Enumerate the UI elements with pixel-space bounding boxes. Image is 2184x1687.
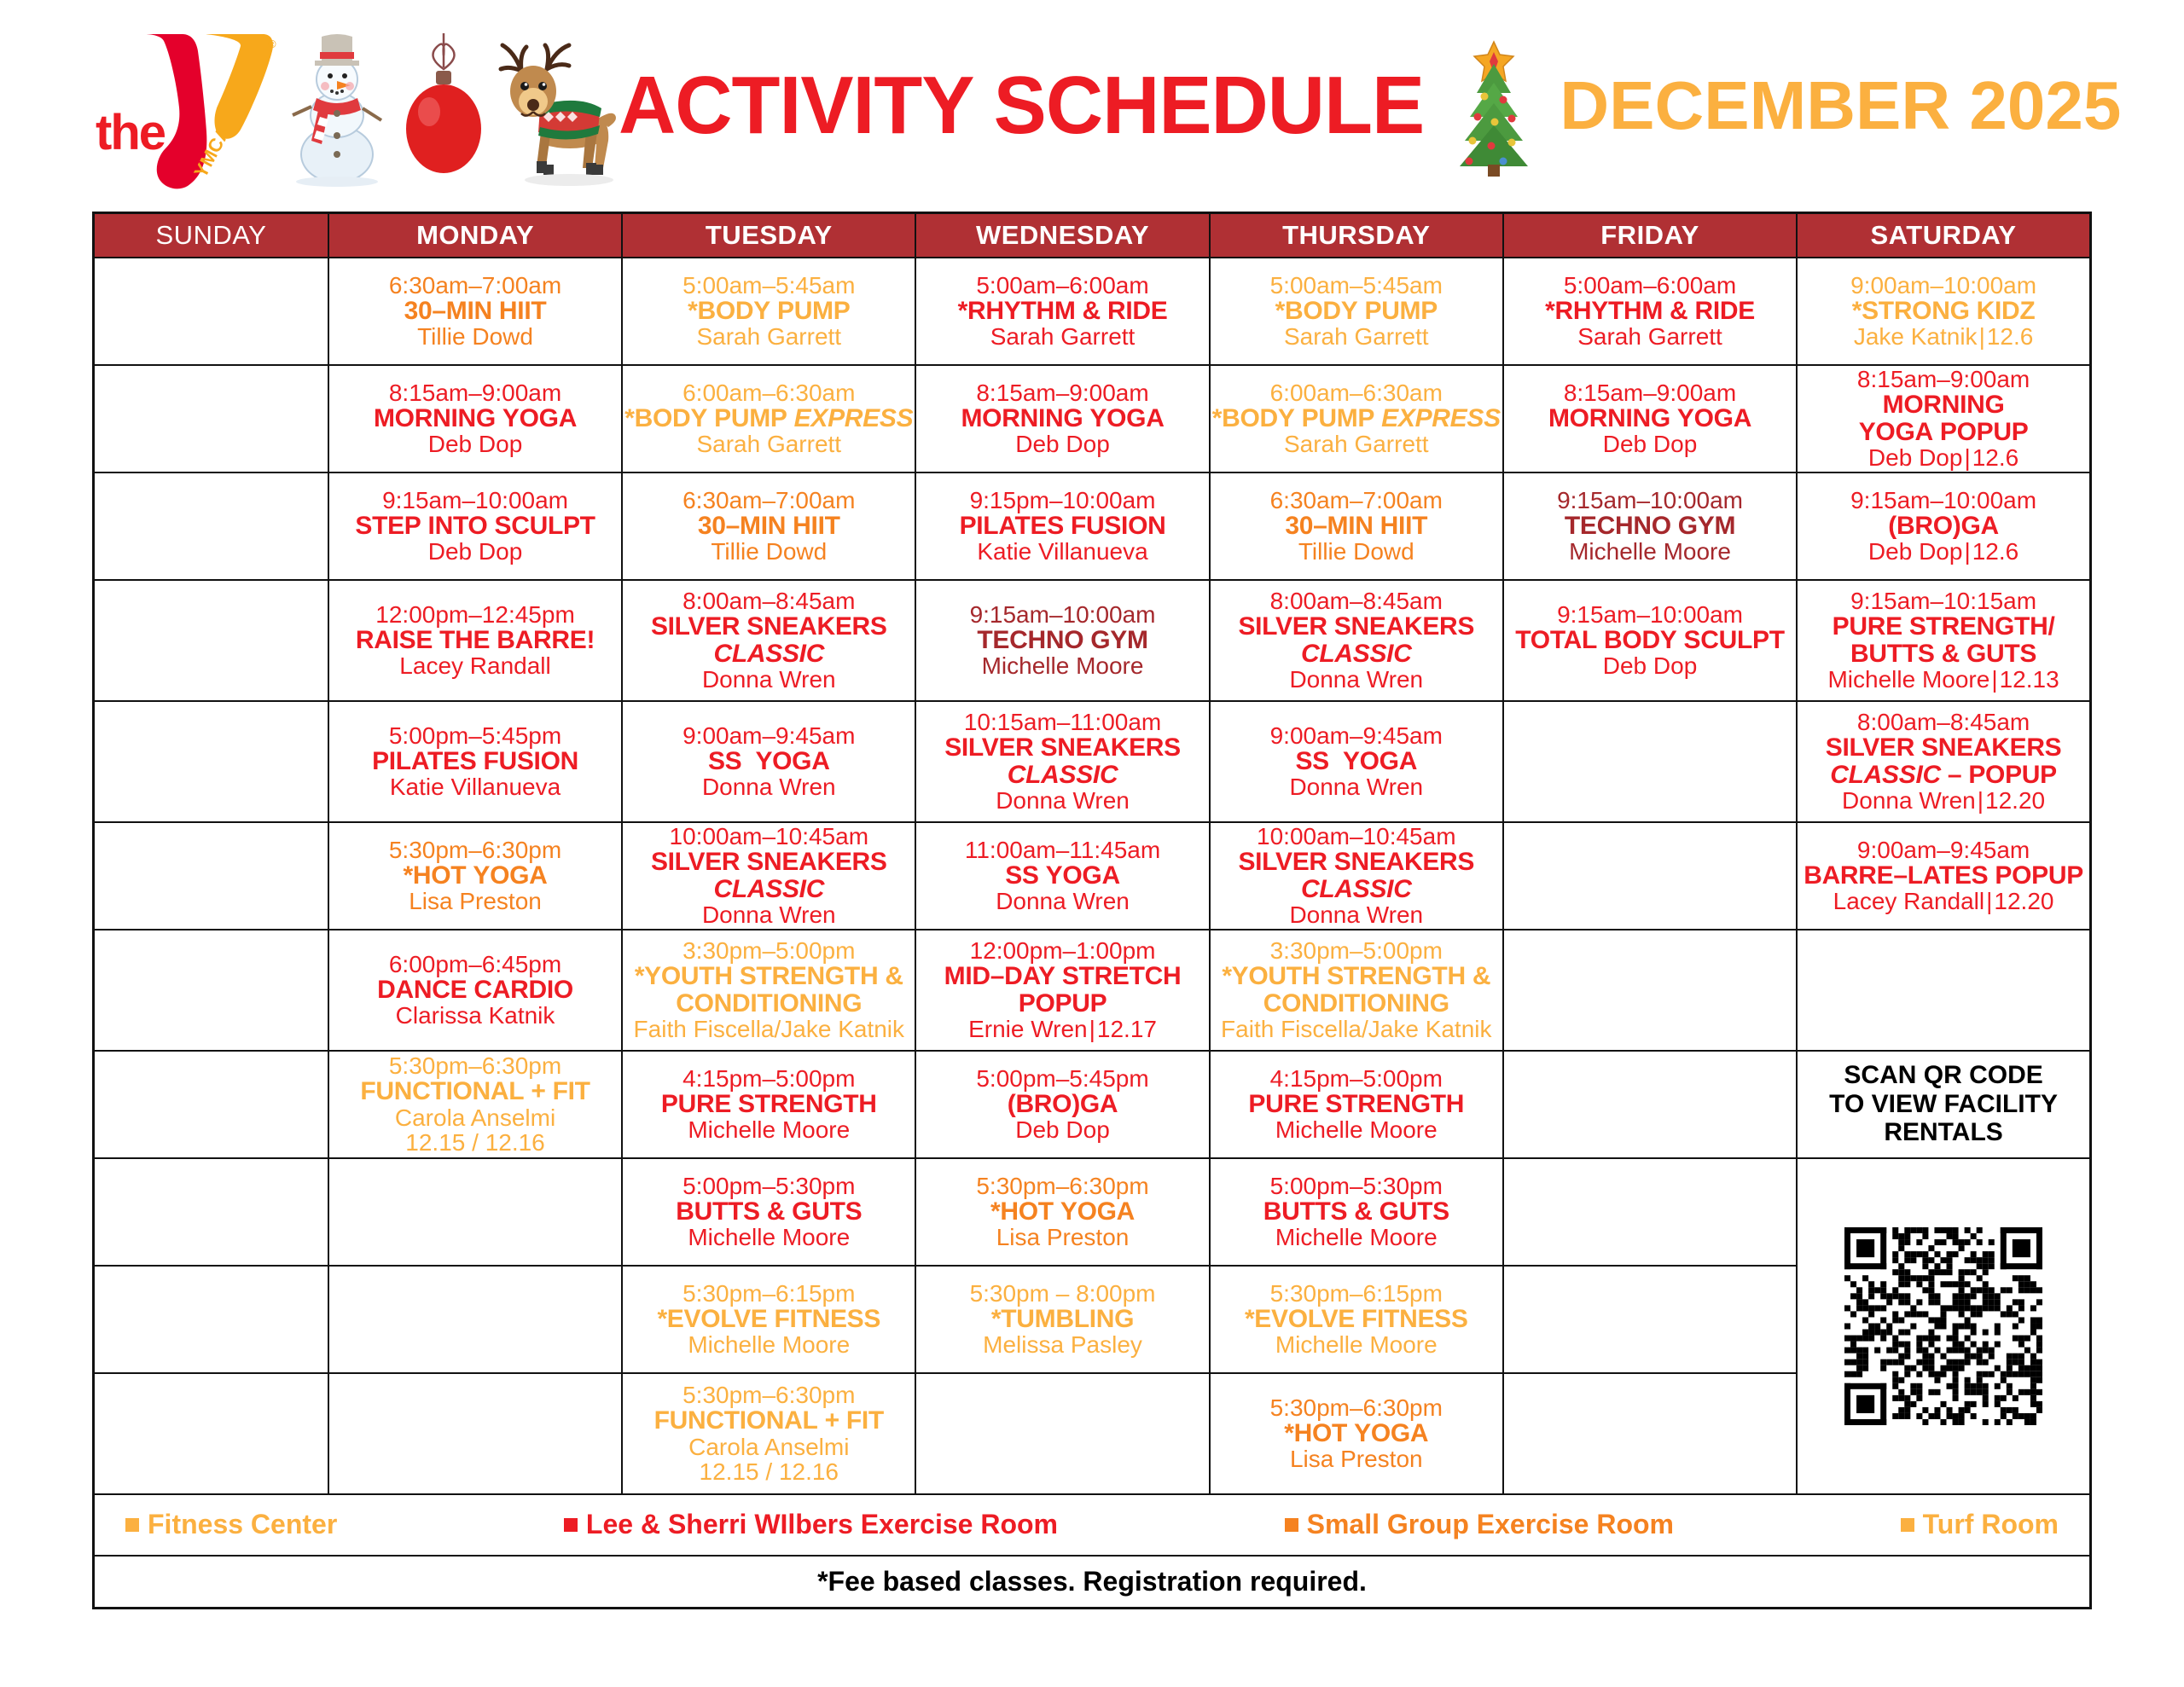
schedule-cell[interactable]: 5:30pm–6:30pm FUNCTIONAL + FIT Carola An… [622, 1373, 915, 1494]
schedule-cell[interactable]: 9:15am–10:00am STEP INTO SCULPT Deb Dop [328, 472, 622, 580]
schedule-cell[interactable]: 9:00am–10:00am *STRONG KIDZ Jake Katnik|… [1797, 258, 2090, 365]
schedule-cell[interactable]: 6:00am–6:30am *BODY PUMP EXPRESS Sarah G… [1210, 365, 1503, 472]
table-header: SUNDAY MONDAY TUESDAY WEDNESDAY THURSDAY… [94, 213, 2091, 258]
event-name: SS YOGA [623, 748, 915, 774]
class-event[interactable]: 6:30am–7:00am 30–MIN HIIT Tillie Dowd [623, 488, 915, 564]
event-name: MORNINGYOGA POPUP [1798, 391, 2089, 444]
legend-label: Lee & Sherri WIlbers Exercise Room [586, 1509, 1058, 1540]
page-title: ACTIVITY SCHEDULE [619, 59, 1424, 153]
legend-label: Fitness Center [148, 1509, 337, 1540]
class-event[interactable]: 6:00am–6:30am *BODY PUMP EXPRESS Sarah G… [623, 380, 915, 456]
event-instructor: Carola Anselmi [329, 1105, 621, 1130]
event-instructor: Michelle Moore [1211, 1332, 1502, 1357]
event-name: SILVER SNEAKERSCLASSIC [623, 849, 915, 901]
event-instructor: Sarah Garrett [1211, 324, 1502, 349]
qr-code-cell[interactable] [1797, 1158, 2090, 1494]
event-time: 10:00am–10:45am [1211, 824, 1502, 849]
schedule-cell[interactable] [94, 1373, 328, 1494]
event-instructor: Deb Dop [1504, 432, 1796, 456]
event-instructor: Sarah Garrett [1504, 324, 1796, 349]
event-dates: 12.15 / 12.16 [623, 1459, 915, 1484]
event-instructor: Michelle Moore|12.13 [1798, 667, 2089, 692]
event-instructor: Lisa Preston [1211, 1446, 1502, 1471]
activity-schedule-page: the YMCA ® [0, 0, 2184, 1687]
event-instructor: Lisa Preston [916, 1225, 1208, 1249]
event-name: STEP INTO SCULPT [329, 513, 621, 539]
schedule-cell[interactable]: 8:00am–8:45am SILVER SNEAKERSCLASSIC – P… [1797, 701, 2090, 822]
qr-instructions: SCAN QR CODE TO VIEW FACILITY RENTALS [1798, 1061, 2089, 1147]
event-instructor: Donna Wren [1211, 902, 1502, 927]
event-name: MORNING YOGA [1504, 405, 1796, 432]
event-instructor: Michelle Moore [623, 1225, 915, 1249]
event-time: 9:00am–9:45am [1211, 723, 1502, 748]
event-name: TECHNO GYM [916, 627, 1208, 653]
event-time: 6:30am–7:00am [329, 273, 621, 298]
class-event[interactable]: 9:15am–10:00am TECHNO GYM Michelle Moore [916, 602, 1208, 678]
event-time: 5:30pm–6:30pm [623, 1383, 915, 1407]
event-instructor: Sarah Garrett [623, 324, 915, 349]
qr-title-line2: TO VIEW FACILITY [1829, 1090, 2058, 1118]
footnote-row: *Fee based classes. Registration require… [94, 1556, 2091, 1609]
schedule-cell[interactable]: 10:00am–10:45am SILVER SNEAKERSCLASSIC D… [1210, 822, 1503, 930]
class-event[interactable]: 5:30pm–6:15pm *EVOLVE FITNESS Michelle M… [1211, 1281, 1502, 1357]
schedule-cell[interactable]: 5:00pm–5:30pm BUTTS & GUTS Michelle Moor… [622, 1158, 915, 1266]
legend-cell: Fitness Center Lee & Sherri WIlbers Exer… [94, 1494, 2091, 1556]
event-time: 8:15am–9:00am [1798, 367, 2089, 391]
class-event[interactable]: 9:15am–10:00am (BRO)GA Deb Dop|12.6 [1798, 488, 2089, 564]
schedule-cell[interactable] [1503, 701, 1797, 822]
event-time: 5:00am–5:45am [1211, 273, 1502, 298]
class-event[interactable]: 5:30pm–6:30pm FUNCTIONAL + FIT Carola An… [329, 1053, 621, 1155]
event-time: 9:00am–10:00am [1798, 273, 2089, 298]
event-name: (BRO)GA [916, 1091, 1208, 1117]
class-event[interactable]: 5:00pm–5:45pm (BRO)GA Deb Dop [916, 1066, 1208, 1142]
schedule-cell[interactable]: 6:00am–6:30am *BODY PUMP EXPRESS Sarah G… [622, 365, 915, 472]
schedule-cell[interactable]: 5:30pm–6:30pm FUNCTIONAL + FIT Carola An… [328, 1051, 622, 1158]
schedule-cell[interactable] [1503, 1373, 1797, 1494]
event-name: *HOT YOGA [916, 1198, 1208, 1225]
class-event[interactable]: 6:30am–7:00am 30–MIN HIIT Tillie Dowd [1211, 488, 1502, 564]
schedule-cell[interactable] [94, 1158, 328, 1266]
legend-label: Turf Room [1923, 1509, 2059, 1540]
event-time: 9:15pm–10:00am [916, 488, 1208, 513]
schedule-cell[interactable]: 5:30pm–6:15pm *EVOLVE FITNESS Michelle M… [622, 1266, 915, 1373]
event-dates: 12.15 / 12.16 [329, 1130, 621, 1155]
event-time: 5:00am–5:45am [623, 273, 915, 298]
day-header-tuesday: TUESDAY [622, 213, 915, 258]
schedule-cell[interactable] [1797, 930, 2090, 1051]
schedule-cell[interactable]: 5:00am–6:00am *RHYTHM & RIDE Sarah Garre… [1503, 258, 1797, 365]
schedule-table: SUNDAY MONDAY TUESDAY WEDNESDAY THURSDAY… [92, 212, 2092, 1609]
event-time: 12:00pm–1:00pm [916, 938, 1208, 963]
schedule-cell[interactable] [94, 1266, 328, 1373]
schedule-cell[interactable]: 5:00pm–5:45pm PILATES FUSION Katie Villa… [328, 701, 622, 822]
schedule-row: 8:15am–9:00am MORNING YOGA Deb Dop 6:00a… [94, 365, 2091, 472]
event-name: *YOUTH STRENGTH &CONDITIONING [623, 963, 915, 1016]
schedule-cell[interactable] [94, 580, 328, 701]
event-name: *HOT YOGA [329, 862, 621, 889]
class-event[interactable]: 9:15am–10:00am TOTAL BODY SCULPT Deb Dop [1504, 602, 1796, 678]
event-instructor: Sarah Garrett [1211, 432, 1502, 456]
schedule-cell[interactable]: 9:15am–10:00am TOTAL BODY SCULPT Deb Dop [1503, 580, 1797, 701]
event-name: PILATES FUSION [916, 513, 1208, 539]
event-instructor: Donna Wren|12.20 [1798, 788, 2089, 813]
class-event[interactable]: 9:15am–10:15am PURE STRENGTH/BUTTS & GUT… [1798, 588, 2089, 692]
fee-note: *Fee based classes. Registration require… [95, 1566, 2089, 1597]
event-name: *BODY PUMP [623, 298, 915, 324]
schedule-cell[interactable] [1503, 1158, 1797, 1266]
class-event[interactable]: 10:15am–11:00am SILVER SNEAKERSCLASSIC D… [916, 710, 1208, 813]
schedule-cell[interactable]: 3:30pm–5:00pm *YOUTH STRENGTH &CONDITION… [622, 930, 915, 1051]
event-time: 10:00am–10:45am [623, 824, 915, 849]
class-event[interactable]: 9:00am–9:45am BARRE–LATES POPUP Lacey Ra… [1798, 838, 2089, 913]
day-header-monday: MONDAY [328, 213, 622, 258]
event-instructor: Deb Dop [329, 432, 621, 456]
schedule-cell[interactable] [94, 365, 328, 472]
class-event[interactable]: 3:30pm–5:00pm *YOUTH STRENGTH &CONDITION… [1211, 938, 1502, 1041]
footnote-cell: *Fee based classes. Registration require… [94, 1556, 2091, 1609]
event-name: *EVOLVE FITNESS [623, 1306, 915, 1332]
schedule-row: 12:00pm–12:45pm RAISE THE BARRE! Lacey R… [94, 580, 2091, 701]
class-event[interactable]: 8:15am–9:00am MORNINGYOGA POPUP Deb Dop|… [1798, 367, 2089, 470]
calendar-container: SUNDAY MONDAY TUESDAY WEDNESDAY THURSDAY… [0, 212, 2184, 1609]
event-name: 30–MIN HIIT [329, 298, 621, 324]
event-name: SILVER SNEAKERSCLASSIC [1211, 613, 1502, 666]
schedule-cell[interactable] [94, 701, 328, 822]
reindeer-icon [491, 23, 619, 189]
event-instructor: Donna Wren [916, 788, 1208, 813]
event-time: 5:30pm–6:30pm [329, 838, 621, 862]
event-instructor: Lisa Preston [329, 889, 621, 913]
class-event[interactable]: 5:00am–6:00am *RHYTHM & RIDE Sarah Garre… [1504, 273, 1796, 349]
event-time: 9:00am–9:45am [1798, 838, 2089, 862]
event-time: 5:00am–6:00am [1504, 273, 1796, 298]
event-name: *TUMBLING [916, 1306, 1208, 1332]
schedule-row: 5:30pm–6:30pm FUNCTIONAL + FIT Carola An… [94, 1051, 2091, 1158]
event-time: 3:30pm–5:00pm [1211, 938, 1502, 963]
event-time: 6:00pm–6:45pm [329, 952, 621, 977]
event-instructor: Donna Wren [623, 902, 915, 927]
class-event[interactable]: 8:00am–8:45am SILVER SNEAKERSCLASSIC – P… [1798, 710, 2089, 813]
schedule-cell[interactable] [94, 822, 328, 930]
class-event[interactable]: 8:15am–9:00am MORNING YOGA Deb Dop [1504, 380, 1796, 456]
class-event[interactable]: 4:15pm–5:00pm PURE STRENGTH Michelle Moo… [1211, 1066, 1502, 1142]
event-name: *YOUTH STRENGTH &CONDITIONING [1211, 963, 1502, 1016]
schedule-cell[interactable]: 6:30am–7:00am 30–MIN HIIT Tillie Dowd [1210, 472, 1503, 580]
schedule-cell[interactable]: 9:15am–10:00am TECHNO GYM Michelle Moore [915, 580, 1209, 701]
class-event[interactable]: 9:15pm–10:00am PILATES FUSION Katie Vill… [916, 488, 1208, 564]
class-event[interactable]: 5:30pm–6:30pm FUNCTIONAL + FIT Carola An… [623, 1383, 915, 1484]
schedule-cell[interactable]: 5:30pm–6:15pm *EVOLVE FITNESS Michelle M… [1210, 1266, 1503, 1373]
schedule-month: DECEMBER 2025 [1560, 67, 2121, 145]
schedule-cell[interactable]: 6:00pm–6:45pm DANCE CARDIO Clarissa Katn… [328, 930, 622, 1051]
event-name: PURE STRENGTH/BUTTS & GUTS [1798, 613, 2089, 666]
schedule-cell[interactable] [1503, 1051, 1797, 1158]
christmas-tree-icon [1443, 33, 1544, 178]
event-name: *STRONG KIDZ [1798, 298, 2089, 324]
qr-code-icon[interactable] [1844, 1227, 2042, 1425]
schedule-cell[interactable]: 9:15pm–10:00am PILATES FUSION Katie Vill… [915, 472, 1209, 580]
class-event[interactable]: 5:30pm–6:30pm *HOT YOGA Lisa Preston [1211, 1395, 1502, 1471]
event-instructor: Michelle Moore [623, 1117, 915, 1142]
event-instructor: Sarah Garrett [623, 432, 915, 456]
schedule-cell[interactable]: 10:00am–10:45am SILVER SNEAKERSCLASSIC D… [622, 822, 915, 930]
event-time: 9:00am–9:45am [623, 723, 915, 748]
event-name: 30–MIN HIIT [623, 513, 915, 539]
event-name: SILVER SNEAKERSCLASSIC [623, 613, 915, 666]
class-event[interactable]: 12:00pm–12:45pm RAISE THE BARRE! Lacey R… [329, 602, 621, 678]
ymca-y-icon: YMCA ® [138, 29, 279, 191]
schedule-cell[interactable]: 5:00am–5:45am *BODY PUMP Sarah Garrett [1210, 258, 1503, 365]
event-name: *BODY PUMP EXPRESS [623, 405, 915, 432]
event-name: BARRE–LATES POPUP [1798, 862, 2089, 889]
schedule-row: 6:30am–7:00am 30–MIN HIIT Tillie Dowd 5:… [94, 258, 2091, 365]
schedule-cell[interactable]: 3:30pm–5:00pm *YOUTH STRENGTH &CONDITION… [1210, 930, 1503, 1051]
schedule-cell[interactable]: 9:00am–9:45am SS YOGA Donna Wren [622, 701, 915, 822]
event-instructor: Michelle Moore [1504, 539, 1796, 564]
legend-item: Fitness Center [125, 1509, 337, 1540]
event-instructor: Deb Dop [1504, 653, 1796, 678]
schedule-cell[interactable]: 6:30am–7:00am 30–MIN HIIT Tillie Dowd [328, 258, 622, 365]
ornament-icon [397, 25, 491, 187]
legend-item: Lee & Sherri WIlbers Exercise Room [564, 1509, 1058, 1540]
legend-swatch-icon [564, 1518, 578, 1532]
svg-text:®: ® [268, 38, 276, 50]
qr-title-line3: RENTALS [1884, 1118, 2002, 1146]
schedule-cell[interactable]: 4:15pm–5:00pm PURE STRENGTH Michelle Moo… [1210, 1051, 1503, 1158]
schedule-cell[interactable]: 5:00pm–5:45pm (BRO)GA Deb Dop [915, 1051, 1209, 1158]
schedule-cell[interactable]: 9:15am–10:00am TECHNO GYM Michelle Moore [1503, 472, 1797, 580]
legend-swatch-icon [1285, 1518, 1298, 1532]
schedule-cell[interactable] [328, 1158, 622, 1266]
event-time: 9:15am–10:00am [1798, 488, 2089, 513]
legend-list: Fitness Center Lee & Sherri WIlbers Exer… [95, 1509, 2089, 1540]
event-name: PURE STRENGTH [623, 1091, 915, 1117]
event-name: DANCE CARDIO [329, 977, 621, 1003]
schedule-cell[interactable]: 5:00am–5:45am *BODY PUMP Sarah Garrett [622, 258, 915, 365]
event-name: BUTTS & GUTS [623, 1198, 915, 1225]
event-name: *BODY PUMP EXPRESS [1211, 405, 1502, 432]
event-name: MID–DAY STRETCHPOPUP [916, 963, 1208, 1016]
event-name: SS YOGA [916, 862, 1208, 889]
event-name: MORNING YOGA [916, 405, 1208, 432]
schedule-cell[interactable]: 8:15am–9:00am MORNING YOGA Deb Dop [1503, 365, 1797, 472]
schedule-cell[interactable]: 8:15am–9:00am MORNING YOGA Deb Dop [915, 365, 1209, 472]
class-event[interactable]: 5:30pm–6:30pm *HOT YOGA Lisa Preston [329, 838, 621, 913]
event-time: 5:00pm–5:45pm [916, 1066, 1208, 1091]
class-event[interactable]: 9:00am–9:45am SS YOGA Donna Wren [1211, 723, 1502, 799]
event-name: *RHYTHM & RIDE [916, 298, 1208, 324]
event-instructor: Clarissa Katnik [329, 1003, 621, 1028]
snowman-icon [277, 25, 397, 187]
schedule-row: 6:00pm–6:45pm DANCE CARDIO Clarissa Katn… [94, 930, 2091, 1051]
schedule-cell[interactable]: 5:30pm–6:30pm *HOT YOGA Lisa Preston [1210, 1373, 1503, 1494]
event-time: 9:15am–10:15am [1798, 588, 2089, 613]
event-time: 6:30am–7:00am [623, 488, 915, 513]
event-time: 8:15am–9:00am [329, 380, 621, 405]
event-name: PURE STRENGTH [1211, 1091, 1502, 1117]
event-instructor: Donna Wren [1211, 667, 1502, 692]
event-instructor: Donna Wren [623, 667, 915, 692]
event-time: 5:00pm–5:45pm [329, 723, 621, 748]
class-event[interactable]: 6:00pm–6:45pm DANCE CARDIO Clarissa Katn… [329, 952, 621, 1028]
class-event[interactable]: 8:15am–9:00am MORNING YOGA Deb Dop [916, 380, 1208, 456]
event-name: *EVOLVE FITNESS [1211, 1306, 1502, 1332]
event-name: (BRO)GA [1798, 513, 2089, 539]
class-event[interactable]: 10:00am–10:45am SILVER SNEAKERSCLASSIC D… [1211, 824, 1502, 927]
class-event[interactable]: 9:00am–9:45am SS YOGA Donna Wren [623, 723, 915, 799]
class-event[interactable]: 9:00am–10:00am *STRONG KIDZ Jake Katnik|… [1798, 273, 2089, 349]
schedule-cell[interactable] [328, 1266, 622, 1373]
class-event[interactable]: 11:00am–11:45am SS YOGA Donna Wren [916, 838, 1208, 913]
event-time: 5:00pm–5:30pm [623, 1174, 915, 1198]
schedule-cell[interactable]: 5:30pm–6:30pm *HOT YOGA Lisa Preston [328, 822, 622, 930]
event-name: MORNING YOGA [329, 405, 621, 432]
schedule-cell[interactable] [94, 930, 328, 1051]
event-time: 9:15am–10:00am [1504, 488, 1796, 513]
event-instructor: Deb Dop|12.6 [1798, 445, 2089, 470]
schedule-row: 9:15am–10:00am STEP INTO SCULPT Deb Dop … [94, 472, 2091, 580]
class-event[interactable]: 5:00pm–5:30pm BUTTS & GUTS Michelle Moor… [1211, 1174, 1502, 1249]
schedule-cell[interactable]: 4:15pm–5:00pm PURE STRENGTH Michelle Moo… [622, 1051, 915, 1158]
page-header: the YMCA ® [0, 0, 2184, 212]
event-time: 4:15pm–5:00pm [1211, 1066, 1502, 1091]
schedule-cell[interactable]: 5:30pm – 8:00pm *TUMBLING Melissa Pasley [915, 1266, 1209, 1373]
event-instructor: Donna Wren [1211, 774, 1502, 799]
event-time: 5:30pm–6:15pm [623, 1281, 915, 1306]
class-event[interactable]: 3:30pm–5:00pm *YOUTH STRENGTH &CONDITION… [623, 938, 915, 1041]
legend-row: Fitness Center Lee & Sherri WIlbers Exer… [94, 1494, 2091, 1556]
schedule-cell[interactable] [1503, 930, 1797, 1051]
event-instructor: Carola Anselmi [623, 1435, 915, 1459]
event-instructor: Deb Dop [329, 539, 621, 564]
event-instructor: Deb Dop|12.6 [1798, 539, 2089, 564]
day-header-saturday: SATURDAY [1797, 213, 2090, 258]
schedule-cell[interactable] [1503, 1266, 1797, 1373]
event-instructor: Lacey Randall [329, 653, 621, 678]
schedule-cell[interactable]: 6:30am–7:00am 30–MIN HIIT Tillie Dowd [622, 472, 915, 580]
schedule-cell[interactable]: 5:00pm–5:30pm BUTTS & GUTS Michelle Moor… [1210, 1158, 1503, 1266]
event-name: *RHYTHM & RIDE [1504, 298, 1796, 324]
event-time: 5:30pm – 8:00pm [916, 1281, 1208, 1306]
schedule-cell[interactable]: 9:00am–9:45am SS YOGA Donna Wren [1210, 701, 1503, 822]
class-event[interactable]: 4:15pm–5:00pm PURE STRENGTH Michelle Moo… [623, 1066, 915, 1142]
event-instructor: Michelle Moore [623, 1332, 915, 1357]
class-event[interactable]: 6:00am–6:30am *BODY PUMP EXPRESS Sarah G… [1211, 380, 1502, 456]
event-time: 8:15am–9:00am [1504, 380, 1796, 405]
event-name: BUTTS & GUTS [1211, 1198, 1502, 1225]
event-name: SILVER SNEAKERSCLASSIC [916, 734, 1208, 787]
class-event[interactable]: 9:15am–10:00am TECHNO GYM Michelle Moore [1504, 488, 1796, 564]
event-instructor: Jake Katnik|12.6 [1798, 324, 2089, 349]
schedule-cell[interactable]: 11:00am–11:45am SS YOGA Donna Wren [915, 822, 1209, 930]
class-event[interactable]: 5:00am–5:45am *BODY PUMP Sarah Garrett [1211, 273, 1502, 349]
event-time: 9:15am–10:00am [916, 602, 1208, 627]
legend-swatch-icon [1901, 1518, 1914, 1532]
class-event[interactable]: 5:30pm–6:30pm *HOT YOGA Lisa Preston [916, 1174, 1208, 1249]
event-time: 6:00am–6:30am [1211, 380, 1502, 405]
schedule-cell[interactable]: 8:15am–9:00am MORNINGYOGA POPUP Deb Dop|… [1797, 365, 2090, 472]
ymca-logo: the YMCA ® [94, 20, 277, 191]
event-instructor: Tillie Dowd [329, 324, 621, 349]
legend-item: Turf Room [1901, 1509, 2059, 1540]
day-header-wednesday: WEDNESDAY [915, 213, 1209, 258]
event-time: 3:30pm–5:00pm [623, 938, 915, 963]
event-instructor: Donna Wren [916, 889, 1208, 913]
event-instructor: Michelle Moore [1211, 1117, 1502, 1142]
event-instructor: Deb Dop [916, 1117, 1208, 1142]
event-instructor: Tillie Dowd [1211, 539, 1502, 564]
class-event[interactable]: 5:00pm–5:45pm PILATES FUSION Katie Villa… [329, 723, 621, 799]
class-event[interactable]: 8:15am–9:00am MORNING YOGA Deb Dop [329, 380, 621, 456]
schedule-cell[interactable]: 9:15am–10:00am (BRO)GA Deb Dop|12.6 [1797, 472, 2090, 580]
schedule-cell[interactable]: 12:00pm–12:45pm RAISE THE BARRE! Lacey R… [328, 580, 622, 701]
title-block: ACTIVITY SCHEDULE [619, 33, 2121, 178]
event-instructor: Michelle Moore [1211, 1225, 1502, 1249]
class-event[interactable]: 8:00am–8:45am SILVER SNEAKERSCLASSIC Don… [1211, 588, 1502, 692]
legend-item: Small Group Exercise Room [1285, 1509, 1674, 1540]
schedule-cell[interactable] [1503, 822, 1797, 930]
event-name: FUNCTIONAL + FIT [623, 1407, 915, 1434]
event-name: SILVER SNEAKERSCLASSIC [1211, 849, 1502, 901]
class-event[interactable]: 10:00am–10:45am SILVER SNEAKERSCLASSIC D… [623, 824, 915, 927]
schedule-cell[interactable]: 5:30pm–6:30pm *HOT YOGA Lisa Preston [915, 1158, 1209, 1266]
event-time: 6:00am–6:30am [623, 380, 915, 405]
table-body: 6:30am–7:00am 30–MIN HIIT Tillie Dowd 5:… [94, 258, 2091, 1494]
event-time: 12:00pm–12:45pm [329, 602, 621, 627]
class-event[interactable]: 12:00pm–1:00pm MID–DAY STRETCHPOPUP Erni… [916, 938, 1208, 1041]
event-instructor: Michelle Moore [916, 653, 1208, 678]
schedule-cell[interactable]: 8:00am–8:45am SILVER SNEAKERSCLASSIC Don… [1210, 580, 1503, 701]
schedule-cell[interactable] [328, 1373, 622, 1494]
schedule-cell[interactable] [94, 258, 328, 365]
schedule-cell[interactable]: 8:00am–8:45am SILVER SNEAKERSCLASSIC Don… [622, 580, 915, 701]
qr-code-holder[interactable] [1798, 1159, 2089, 1493]
class-event[interactable]: 5:00am–5:45am *BODY PUMP Sarah Garrett [623, 273, 915, 349]
qr-title-line1: SCAN QR CODE [1844, 1061, 2042, 1089]
table-footer: Fitness Center Lee & Sherri WIlbers Exer… [94, 1494, 2091, 1609]
class-event[interactable]: 6:30am–7:00am 30–MIN HIIT Tillie Dowd [329, 273, 621, 349]
event-name: TECHNO GYM [1504, 513, 1796, 539]
event-time: 9:15am–10:00am [1504, 602, 1796, 627]
schedule-cell[interactable] [94, 1051, 328, 1158]
event-time: 5:00am–6:00am [916, 273, 1208, 298]
schedule-cell[interactable]: 8:15am–9:00am MORNING YOGA Deb Dop [328, 365, 622, 472]
class-event[interactable]: 8:00am–8:45am SILVER SNEAKERSCLASSIC Don… [623, 588, 915, 692]
schedule-row: 5:30pm–6:15pm *EVOLVE FITNESS Michelle M… [94, 1266, 2091, 1373]
schedule-cell[interactable]: 9:15am–10:15am PURE STRENGTH/BUTTS & GUT… [1797, 580, 2090, 701]
class-event[interactable]: 9:15am–10:00am STEP INTO SCULPT Deb Dop [329, 488, 621, 564]
schedule-cell[interactable] [94, 472, 328, 580]
class-event[interactable]: 5:00am–6:00am *RHYTHM & RIDE Sarah Garre… [916, 273, 1208, 349]
schedule-cell[interactable]: 10:15am–11:00am SILVER SNEAKERSCLASSIC D… [915, 701, 1209, 822]
event-instructor: Faith Fiscella/Jake Katnik [623, 1017, 915, 1041]
event-time: 5:30pm–6:30pm [329, 1053, 621, 1078]
schedule-cell[interactable]: 12:00pm–1:00pm MID–DAY STRETCHPOPUP Erni… [915, 930, 1209, 1051]
schedule-cell[interactable] [915, 1373, 1209, 1494]
event-name: PILATES FUSION [329, 748, 621, 774]
schedule-cell[interactable]: 9:00am–9:45am BARRE–LATES POPUP Lacey Ra… [1797, 822, 2090, 930]
class-event[interactable]: 5:00pm–5:30pm BUTTS & GUTS Michelle Moor… [623, 1174, 915, 1249]
class-event[interactable]: 5:30pm–6:15pm *EVOLVE FITNESS Michelle M… [623, 1281, 915, 1357]
legend-swatch-icon [125, 1518, 139, 1532]
class-event[interactable]: 5:30pm – 8:00pm *TUMBLING Melissa Pasley [916, 1281, 1208, 1357]
event-instructor: Katie Villanueva [916, 539, 1208, 564]
event-instructor: Faith Fiscella/Jake Katnik [1211, 1017, 1502, 1041]
event-instructor: Melissa Pasley [916, 1332, 1208, 1357]
schedule-cell[interactable]: 5:00am–6:00am *RHYTHM & RIDE Sarah Garre… [915, 258, 1209, 365]
event-time: 8:00am–8:45am [623, 588, 915, 613]
